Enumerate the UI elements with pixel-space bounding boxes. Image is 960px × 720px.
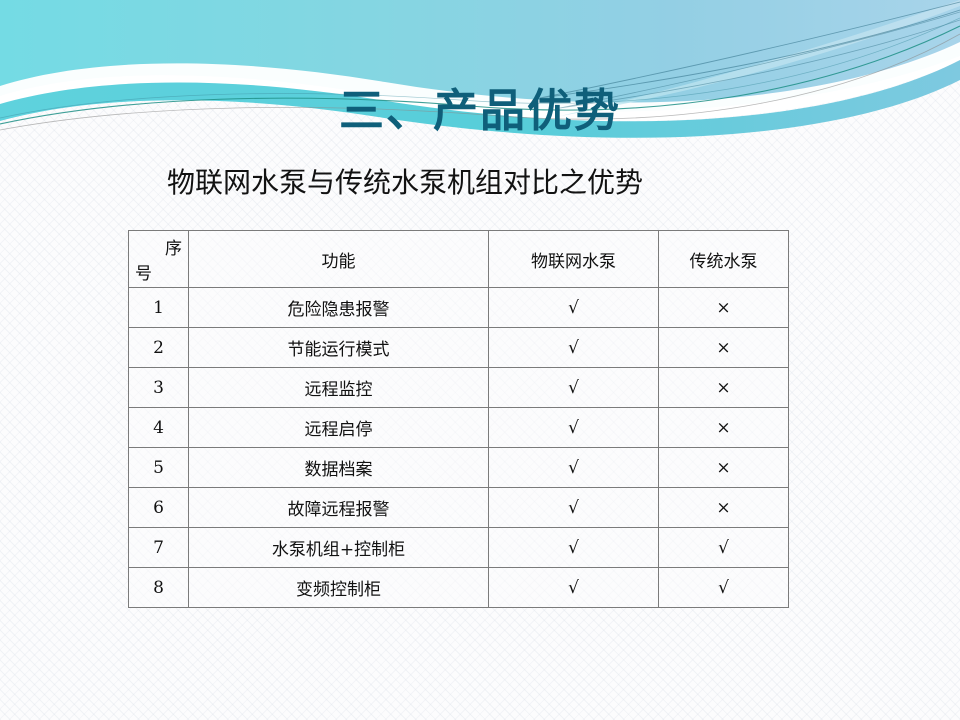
- cell-function-name: 节能运行模式: [189, 328, 489, 368]
- table-row: 4远程启停√×: [129, 408, 789, 448]
- header-cell-function: 功能: [189, 231, 489, 288]
- table-row: 8变频控制柜√√: [129, 568, 789, 608]
- cell-traditional-support-mark: ×: [659, 488, 789, 528]
- table-header-row: 序 号 功能 物联网水泵 传统水泵: [129, 231, 789, 288]
- cell-function-name: 故障远程报警: [189, 488, 489, 528]
- cell-row-number: 3: [129, 368, 189, 408]
- cell-iot-support-mark: √: [489, 488, 659, 528]
- cell-iot-support-mark: √: [489, 528, 659, 568]
- table-row: 6故障远程报警√×: [129, 488, 789, 528]
- table-row: 2节能运行模式√×: [129, 328, 789, 368]
- cell-row-number: 1: [129, 288, 189, 328]
- cell-function-name: 远程启停: [189, 408, 489, 448]
- header-cell-iot-pump: 物联网水泵: [489, 231, 659, 288]
- cell-iot-support-mark: √: [489, 568, 659, 608]
- cell-function-name: 远程监控: [189, 368, 489, 408]
- cell-iot-support-mark: √: [489, 448, 659, 488]
- cell-traditional-support-mark: ×: [659, 448, 789, 488]
- cell-traditional-support-mark: ×: [659, 288, 789, 328]
- table-row: 5数据档案√×: [129, 448, 789, 488]
- table-row: 7水泵机组+控制柜√√: [129, 528, 789, 568]
- cell-row-number: 4: [129, 408, 189, 448]
- cell-row-number: 2: [129, 328, 189, 368]
- table-row: 1危险隐患报警√×: [129, 288, 789, 328]
- cell-function-name: 变频控制柜: [189, 568, 489, 608]
- table-row: 3远程监控√×: [129, 368, 789, 408]
- slide-canvas: 三、产品优势 物联网水泵与传统水泵机组对比之优势 序 号 功能 物联网水泵 传统…: [0, 0, 960, 720]
- cell-function-name: 数据档案: [189, 448, 489, 488]
- header-no-top-label: 序: [165, 234, 182, 259]
- cell-traditional-support-mark: ×: [659, 368, 789, 408]
- header-cell-traditional-pump: 传统水泵: [659, 231, 789, 288]
- cell-row-number: 7: [129, 528, 189, 568]
- header-cell-no: 序 号: [129, 231, 189, 288]
- cell-function-name: 危险隐患报警: [189, 288, 489, 328]
- table-header: 序 号 功能 物联网水泵 传统水泵: [129, 231, 789, 288]
- cell-row-number: 6: [129, 488, 189, 528]
- slide-title: 三、产品优势: [0, 88, 960, 133]
- cell-traditional-support-mark: ×: [659, 408, 789, 448]
- cell-function-name: 水泵机组+控制柜: [189, 528, 489, 568]
- cell-row-number: 5: [129, 448, 189, 488]
- cell-iot-support-mark: √: [489, 408, 659, 448]
- cell-iot-support-mark: √: [489, 328, 659, 368]
- cell-iot-support-mark: √: [489, 288, 659, 328]
- table-body: 1危险隐患报警√×2节能运行模式√×3远程监控√×4远程启停√×5数据档案√×6…: [129, 288, 789, 608]
- cell-traditional-support-mark: √: [659, 568, 789, 608]
- cell-traditional-support-mark: ×: [659, 328, 789, 368]
- cell-traditional-support-mark: √: [659, 528, 789, 568]
- header-no-bottom-label: 号: [135, 259, 152, 284]
- slide-subtitle: 物联网水泵与传统水泵机组对比之优势: [0, 166, 960, 200]
- cell-iot-support-mark: √: [489, 368, 659, 408]
- comparison-table: 序 号 功能 物联网水泵 传统水泵 1危险隐患报警√×2节能运行模式√×3远程监…: [128, 230, 789, 608]
- cell-row-number: 8: [129, 568, 189, 608]
